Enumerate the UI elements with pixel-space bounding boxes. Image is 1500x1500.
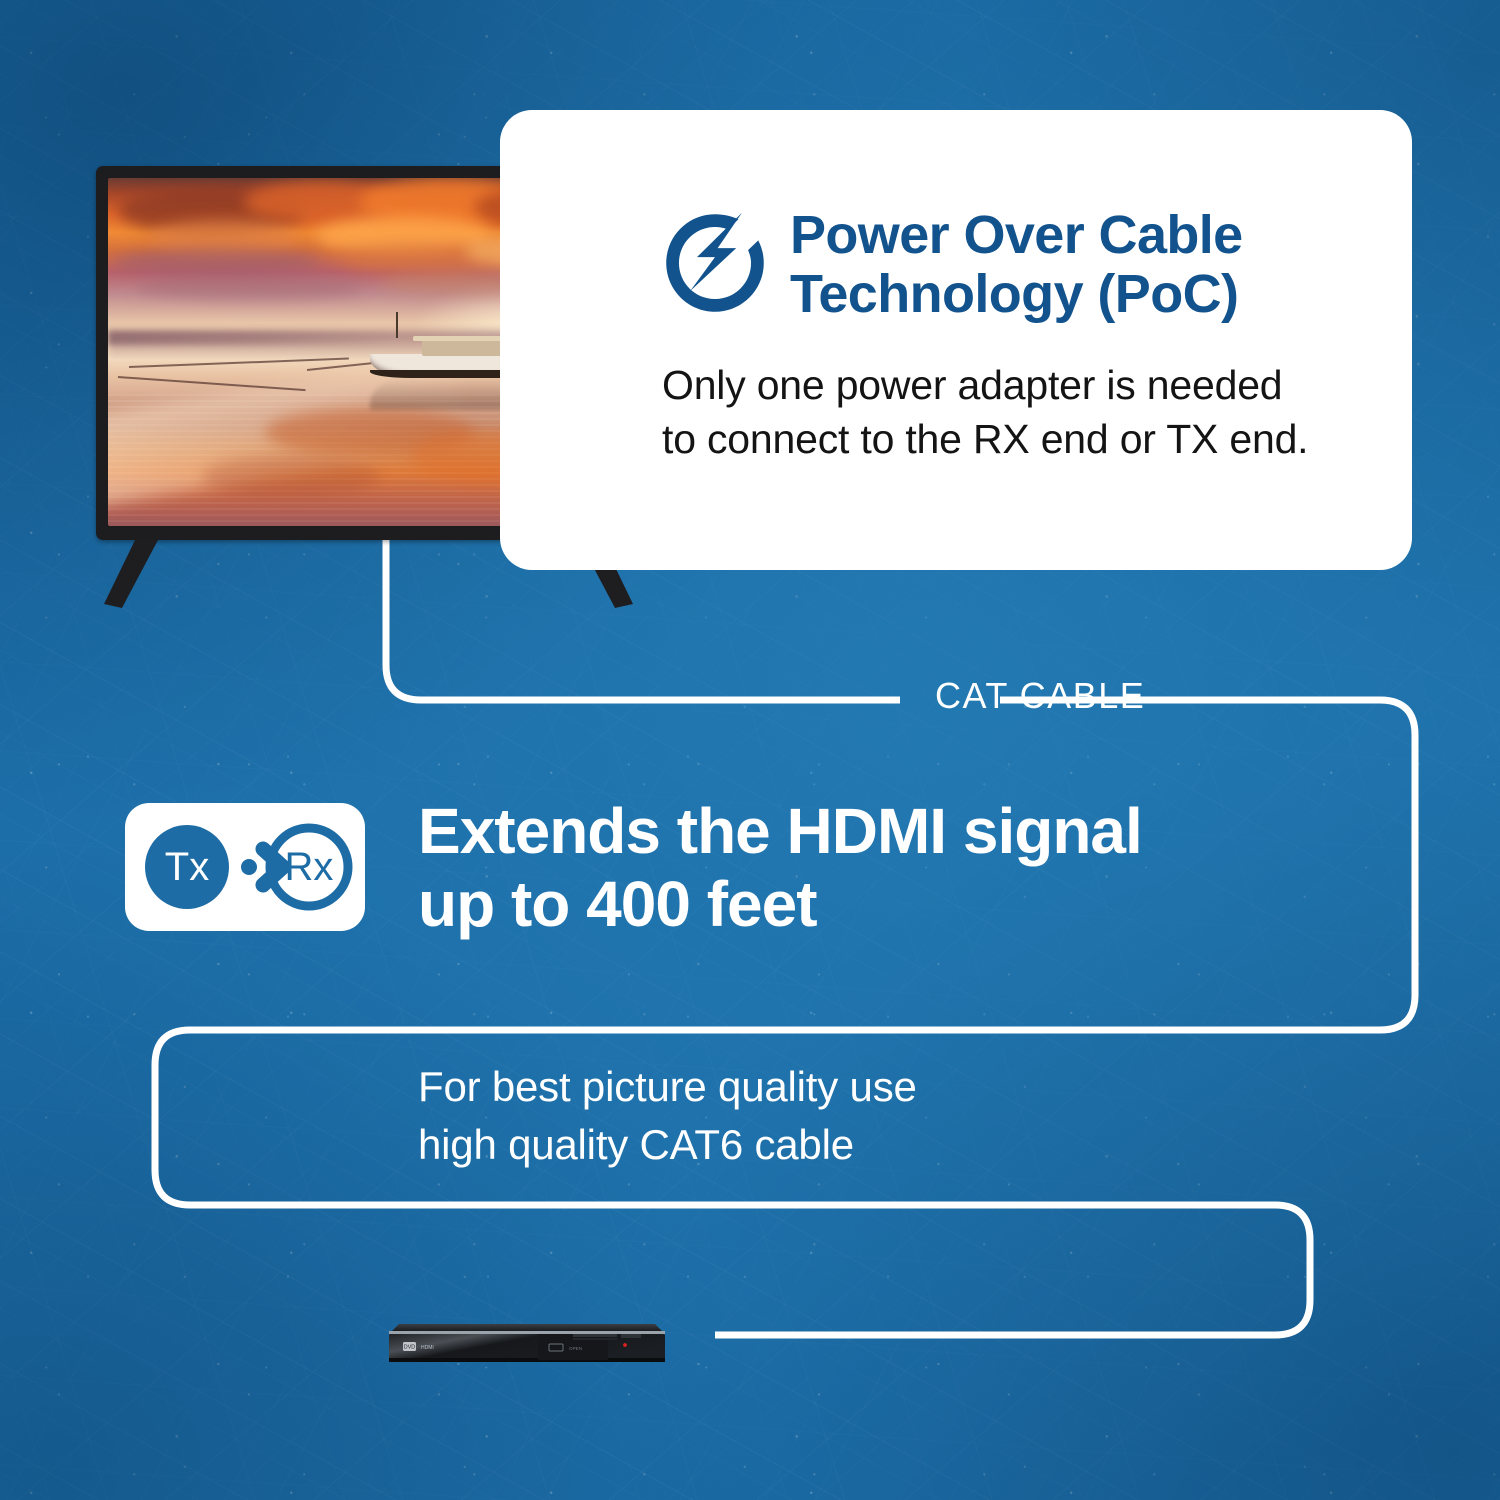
tx-rx-badge: Tx Rx: [125, 803, 365, 931]
tip-line-1: For best picture quality use: [418, 1058, 1138, 1116]
player-hdmi-badge: HDMI: [421, 1345, 434, 1351]
cat-cable-label: CAT CABLE: [935, 675, 1145, 717]
poc-body-line-1: Only one power adapter is needed: [662, 358, 1392, 412]
poc-card-body: Only one power adapter is needed to conn…: [662, 358, 1392, 466]
poc-title-line-1: Power Over Cable: [790, 206, 1243, 265]
arrow-dot: [241, 859, 257, 875]
poc-card-header: Power Over Cable Technology (PoC): [662, 206, 1374, 325]
headline-line-2: up to 400 feet: [418, 868, 1318, 941]
rx-label: Rx: [285, 845, 334, 889]
svg-text:OPEN: OPEN: [569, 1346, 582, 1351]
poc-body-line-2: to connect to the RX end or TX end.: [662, 412, 1392, 466]
player-dvd-badge: DVD: [404, 1345, 415, 1351]
tx-label: Tx: [165, 845, 209, 889]
tx-rx-graphic: Tx Rx: [125, 803, 365, 931]
poc-info-card: Power Over Cable Technology (PoC) Only o…: [500, 110, 1412, 570]
poc-title-line-2: Technology (PoC): [790, 265, 1243, 324]
tip-line-2: high quality CAT6 cable: [418, 1116, 1138, 1174]
headline-line-1: Extends the HDMI signal: [418, 795, 1318, 868]
dvd-player: DVD HDMI OPEN: [383, 1310, 671, 1368]
power-bolt-circle-icon: [662, 210, 768, 316]
cable-quality-tip: For best picture quality use high qualit…: [418, 1058, 1138, 1174]
infographic-canvas: Power Over Cable Technology (PoC) Only o…: [0, 0, 1500, 1500]
extender-headline: Extends the HDMI signal up to 400 feet: [418, 795, 1318, 941]
screen-boat-mast: [396, 312, 398, 338]
poc-card-title: Power Over Cable Technology (PoC): [790, 206, 1243, 325]
